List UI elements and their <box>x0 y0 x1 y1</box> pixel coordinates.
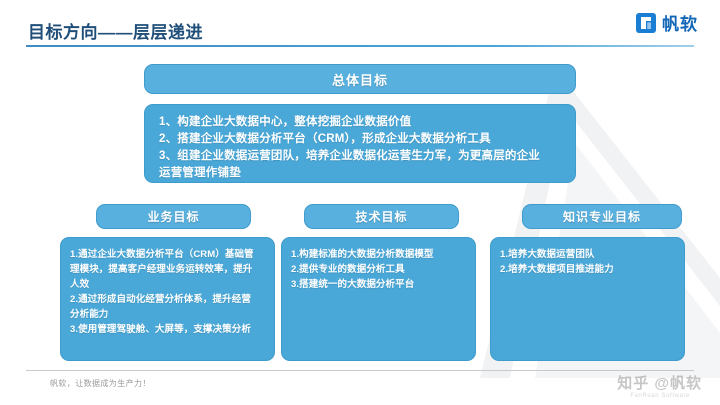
zhihu-watermark: 知乎 @帆软 <box>617 372 702 393</box>
business-goal-line: 人效 <box>70 277 266 292</box>
knowledge-goal-line: 1.培养大数据运营团队 <box>500 247 676 262</box>
brand-logo: 帆软 <box>635 10 698 35</box>
overall-goal-header: 总体目标 <box>144 64 576 94</box>
business-goal-header-label: 业务目标 <box>147 208 199 225</box>
business-goal-line: 分析能力 <box>70 307 266 322</box>
overall-goal-line: 2、搭建企业大数据分析平台（CRM），形成企业大数据分析工具 <box>159 131 563 148</box>
overall-goal-line: 3、组建企业数据运营团队，培养企业数据化运营生力军，为更高层的企业 <box>159 148 563 165</box>
header-divider <box>26 45 694 47</box>
business-goal-line: 2.通过形成自动化经营分析体系，提升经营 <box>70 292 266 307</box>
overall-goal-line: 运营管理作铺垫 <box>159 165 563 182</box>
knowledge-goal-header-label: 知识专业目标 <box>563 208 641 225</box>
knowledge-goal-header: 知识专业目标 <box>522 204 682 229</box>
technical-goal-header-label: 技术目标 <box>355 208 407 225</box>
fanruan-logo-icon <box>635 12 657 34</box>
knowledge-goal-body: 1.培养大数据运营团队 2.培养大数据项目推进能力 <box>490 237 685 361</box>
overall-goal-body: 1、构建企业大数据中心，整体挖掘企业数据价值 2、搭建企业大数据分析平台（CRM… <box>144 104 576 183</box>
business-goal-line: 理模块，提高客户经理业务运转效率，提升 <box>70 262 266 277</box>
business-goal-header: 业务目标 <box>96 204 251 229</box>
footer-tagline: 帆软，让数据成为生产力！ <box>50 378 151 389</box>
technical-goal-header: 技术目标 <box>304 204 459 229</box>
brand-name: 帆软 <box>662 10 698 35</box>
business-goal-line: 3.使用管理驾驶舱、大屏等，支撑决策分析 <box>70 322 266 337</box>
page-title: 目标方向——层层递进 <box>28 18 203 43</box>
technical-goal-body: 1.构建标准的大数据分析数据模型 2.提供专业的数据分析工具 3.搭建统一的大数… <box>281 237 476 361</box>
technical-goal-line: 2.提供专业的数据分析工具 <box>291 262 467 277</box>
business-goal-line: 1.通过企业大数据分析平台（CRM）基础管 <box>70 247 266 262</box>
overall-goal-header-label: 总体目标 <box>332 70 388 89</box>
technical-goal-line: 3.搭建统一的大数据分析平台 <box>291 277 467 292</box>
footer-divider <box>26 370 694 371</box>
slide-header: 目标方向——层层递进 帆软 <box>0 0 720 48</box>
zhihu-watermark-subtext: FanRuan Software <box>630 393 690 399</box>
knowledge-goal-line: 2.培养大数据项目推进能力 <box>500 262 676 277</box>
overall-goal-line: 1、构建企业大数据中心，整体挖掘企业数据价值 <box>159 114 563 131</box>
technical-goal-line: 1.构建标准的大数据分析数据模型 <box>291 247 467 262</box>
business-goal-body: 1.通过企业大数据分析平台（CRM）基础管 理模块，提高客户经理业务运转效率，提… <box>60 237 275 361</box>
slide-canvas: 目标方向——层层递进 帆软 总体目标 1、构建企业大数据中心，整体挖掘企业数据价… <box>0 0 720 405</box>
